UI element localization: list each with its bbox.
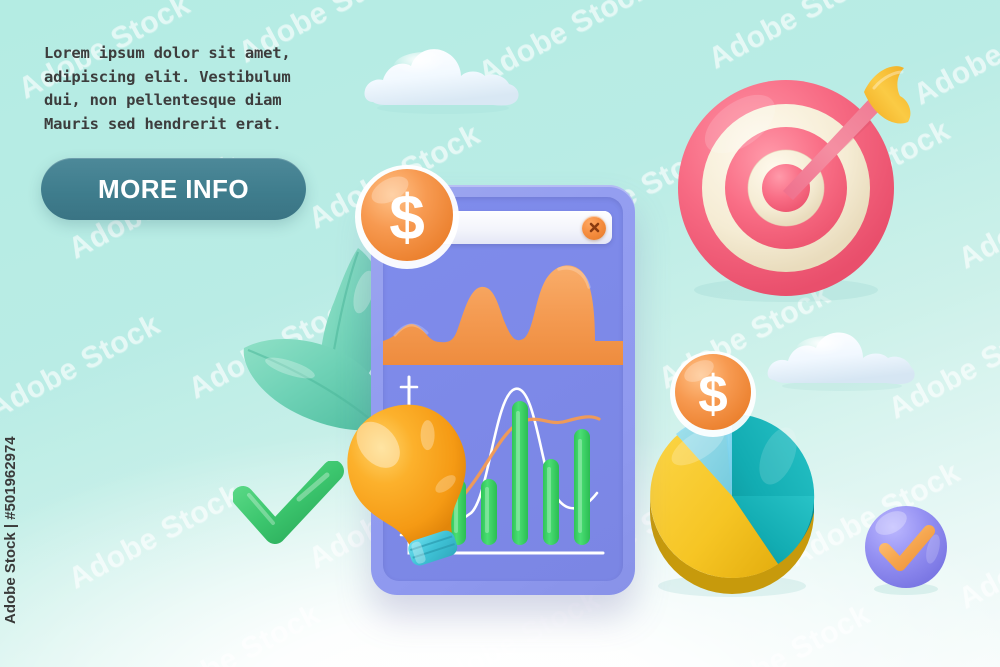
watermark-text: Adobe Stock <box>908 0 1000 112</box>
svg-text:$: $ <box>389 181 425 253</box>
watermark-text: Adobe Stock <box>63 478 246 597</box>
light-bulb-icon <box>346 398 480 575</box>
dollar-coin-icon: $ <box>352 160 462 275</box>
watermark-text: Adobe Stock <box>423 583 606 667</box>
target-dartboard-icon <box>668 62 918 312</box>
green-check-icon <box>233 461 345 552</box>
cloud-right-icon <box>766 326 918 397</box>
more-info-button-label: MORE INFO <box>98 174 249 205</box>
dollar-coin-icon: $ <box>668 346 758 443</box>
watermark-text: Adobe Stock <box>953 498 1000 617</box>
watermark-text: Adobe Stock <box>953 158 1000 277</box>
illustration-canvas: Adobe Stock Adobe Stock Adobe Stock Adob… <box>0 0 1000 667</box>
purple-check-badge-icon <box>861 503 951 604</box>
watermark-text: Adobe Stock <box>693 598 876 667</box>
close-icon[interactable] <box>582 216 606 240</box>
headline-paragraph: Lorem ipsum dolor sit amet, adipiscing e… <box>44 42 334 136</box>
watermark-text: Adobe Stock <box>143 598 326 667</box>
stock-id-watermark: Adobe Stock | #501962974 <box>2 436 19 624</box>
more-info-button[interactable]: MORE INFO <box>41 158 306 220</box>
cloud-top-icon <box>363 42 523 119</box>
watermark-text: Adobe Stock <box>0 308 166 427</box>
svg-text:$: $ <box>698 365 727 424</box>
